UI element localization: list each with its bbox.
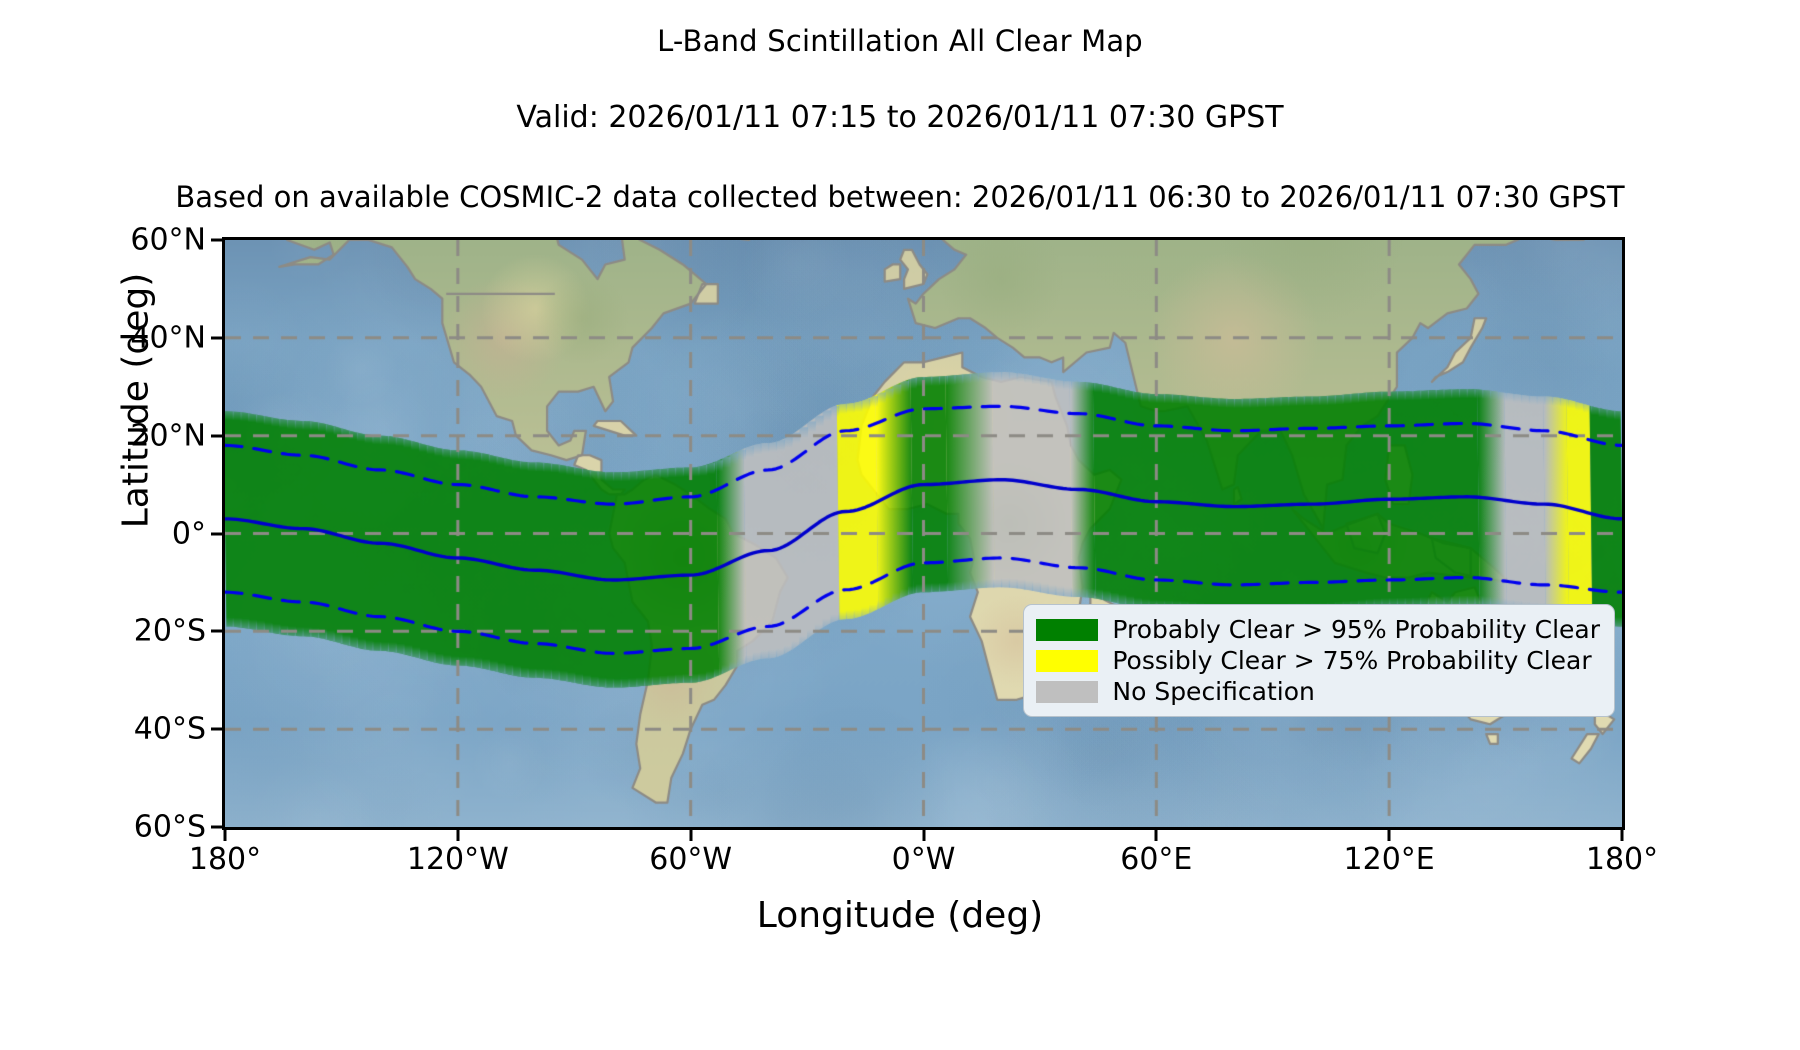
legend-label-probably-clear: Probably Clear > 95% Probability Clear	[1112, 615, 1600, 644]
y-axis-title: Latitude (deg)	[116, 251, 157, 551]
y-tick-label-5: 40°S	[46, 712, 206, 747]
legend-swatch-probably-clear	[1036, 619, 1098, 641]
x-axis-title: Longitude (deg)	[0, 895, 1800, 936]
x-tick-mark-0	[224, 830, 227, 841]
x-tick-mark-6	[1621, 830, 1624, 841]
x-tick-mark-2	[689, 830, 692, 841]
y-tick-label-4: 20°S	[46, 614, 206, 649]
x-tick-label-1: 120°W	[358, 842, 558, 877]
x-tick-mark-4	[1155, 830, 1158, 841]
x-tick-mark-3	[922, 830, 925, 841]
y-tick-label-6: 60°S	[46, 810, 206, 845]
world-map-canvas	[225, 240, 1622, 827]
legend-item-probably-clear: Probably Clear > 95% Probability Clear	[1036, 614, 1600, 645]
x-tick-label-5: 120°E	[1289, 842, 1489, 877]
x-tick-mark-1	[456, 830, 459, 841]
y-tick-mark-4	[211, 630, 222, 633]
map-plot-area[interactable]: Map valid for 1500 MHz Probably Clear > …	[222, 237, 1625, 830]
x-tick-mark-5	[1388, 830, 1391, 841]
data-source-title: Based on available COSMIC-2 data collect…	[0, 180, 1800, 214]
page-title: L-Band Scintillation All Clear Map	[0, 24, 1800, 58]
y-tick-mark-3	[211, 532, 222, 535]
x-tick-label-0: 180°	[125, 842, 325, 877]
y-tick-label-3: 0°	[46, 516, 206, 551]
y-tick-mark-2	[211, 434, 222, 437]
legend-item-possibly-clear: Possibly Clear > 75% Probability Clear	[1036, 645, 1600, 676]
y-tick-label-1: 40°N	[46, 320, 206, 355]
y-tick-label-2: 20°N	[46, 418, 206, 453]
y-tick-label-0: 60°N	[46, 223, 206, 258]
x-tick-label-6: 180°	[1522, 842, 1722, 877]
x-tick-label-4: 60°E	[1056, 842, 1256, 877]
scintillation-map-page: L-Band Scintillation All Clear Map Valid…	[0, 0, 1800, 1050]
x-tick-label-2: 60°W	[591, 842, 791, 877]
legend-swatch-no-specification	[1036, 681, 1098, 703]
y-tick-mark-5	[211, 728, 222, 731]
y-tick-mark-1	[211, 336, 222, 339]
y-tick-mark-6	[211, 826, 222, 829]
legend-label-no-specification: No Specification	[1112, 677, 1314, 706]
map-legend: Probably Clear > 95% Probability ClearPo…	[1023, 604, 1615, 717]
y-tick-mark-0	[211, 239, 222, 242]
valid-time-title: Valid: 2026/01/11 07:15 to 2026/01/11 07…	[0, 100, 1800, 135]
legend-swatch-possibly-clear	[1036, 650, 1098, 672]
x-tick-label-3: 0°W	[824, 842, 1024, 877]
legend-item-no-specification: No Specification	[1036, 676, 1600, 707]
legend-label-possibly-clear: Possibly Clear > 75% Probability Clear	[1112, 646, 1591, 675]
